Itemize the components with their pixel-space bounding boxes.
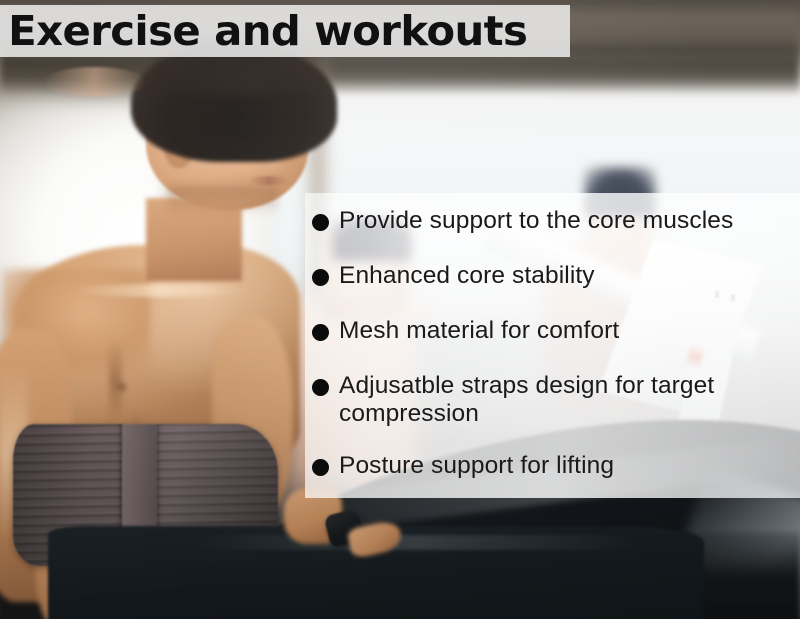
feature-label: Provide support to the core muscles (339, 207, 733, 235)
feature-label: Enhanced core stability (339, 262, 595, 290)
bullet-dot-icon (312, 379, 329, 396)
man-pants-waistband (192, 535, 640, 550)
feature-label: Posture support for lifting (339, 452, 614, 480)
bullet-dot-icon (312, 459, 329, 476)
man-chest-detail (116, 382, 127, 392)
bullet-dot-icon (312, 324, 329, 341)
belt-top-edge (43, 67, 146, 97)
feature-label: Adjusatble straps design for target comp… (339, 372, 794, 428)
list-item: Adjusatble straps design for target comp… (312, 372, 794, 428)
list-item: Enhanced core stability (312, 262, 794, 290)
feature-label: Mesh material for comfort (339, 317, 619, 345)
feature-list-panel: Provide support to the core muscles Enha… (305, 193, 800, 498)
list-item: Provide support to the core muscles (312, 207, 794, 235)
feature-list: Provide support to the core muscles Enha… (312, 207, 794, 480)
list-item: Posture support for lifting (312, 452, 794, 480)
bullet-dot-icon (312, 214, 329, 231)
man-jaw-shadow (168, 186, 278, 216)
man-collarbone (72, 284, 249, 297)
list-item: Mesh material for comfort (312, 317, 794, 345)
poster-canvas: Exercise and workouts Provide support to… (0, 0, 800, 619)
bullet-dot-icon (312, 269, 329, 286)
page-title: Exercise and workouts (0, 11, 527, 52)
title-banner: Exercise and workouts (0, 5, 570, 57)
